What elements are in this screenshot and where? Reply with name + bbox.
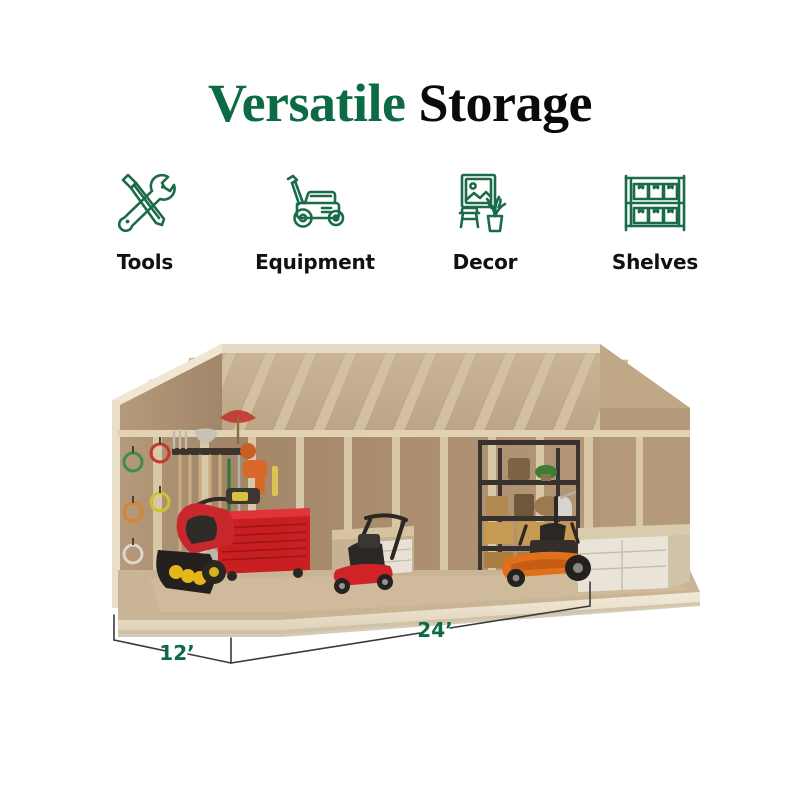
crossed-wrench-screwdriver-icon xyxy=(107,168,183,238)
feature-list: Tools xyxy=(70,168,730,274)
page-root: Versatile Storage Tools xyxy=(0,0,800,800)
feature-label-equipment: Equipment xyxy=(255,250,375,274)
feature-label-decor: Decor xyxy=(453,250,518,274)
page-title-main: Storage xyxy=(419,73,592,133)
dimension-label-width: 12’ xyxy=(159,641,194,665)
page-title: Versatile Storage xyxy=(0,72,800,134)
framed-picture-stool-plant-icon xyxy=(447,168,523,238)
feature-label-shelves: Shelves xyxy=(612,250,698,274)
feature-item-shelves[interactable]: Shelves xyxy=(580,168,730,274)
shelving-unit-boxes-icon xyxy=(617,168,693,238)
dimension-label-length: 24’ xyxy=(417,618,452,642)
page-title-accent: Versatile xyxy=(208,73,405,133)
feature-item-equipment[interactable]: Equipment xyxy=(240,168,390,274)
right-gable-triangle xyxy=(600,344,690,408)
feature-label-tools: Tools xyxy=(117,250,173,274)
feature-item-tools[interactable]: Tools xyxy=(70,168,220,274)
shed-illustration: 12’ 24’ xyxy=(0,320,800,680)
white-workbench-cabinet xyxy=(578,524,690,592)
lawn-mower-icon xyxy=(277,168,353,238)
feature-item-decor[interactable]: Decor xyxy=(410,168,560,274)
